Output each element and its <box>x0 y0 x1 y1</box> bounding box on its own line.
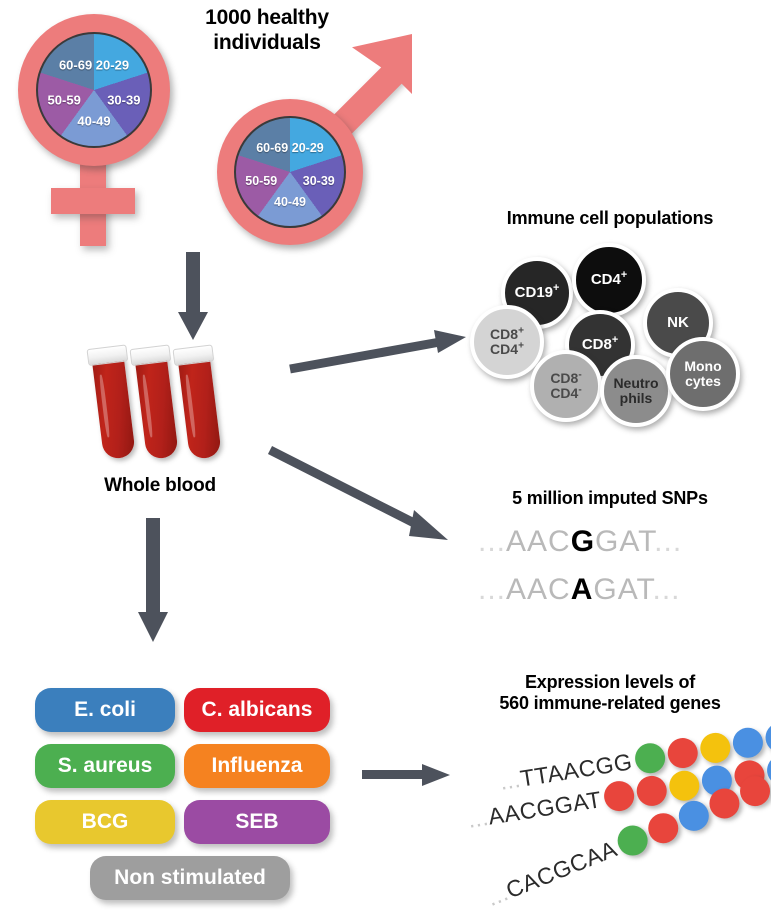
gene-bead <box>730 726 764 760</box>
gene-bead <box>763 720 771 754</box>
gene-bead <box>633 741 667 775</box>
gene-bead <box>674 796 713 835</box>
gene-bead <box>602 779 636 813</box>
figure-canvas: 20-2930-3940-4950-5960-69 20-2930-3940-4… <box>0 0 771 922</box>
gene-bead <box>634 774 668 808</box>
gene-bead <box>644 809 683 848</box>
gene-bead <box>665 736 699 770</box>
gene-bead <box>698 731 732 765</box>
gene-strand-sequence: ...CACGCAA <box>483 835 621 912</box>
gene-strand-group: ...TTAACGG...AACGGAT...CACGCAA <box>0 0 771 922</box>
gene-strand-sequence: ...AACGGAT <box>466 786 603 834</box>
